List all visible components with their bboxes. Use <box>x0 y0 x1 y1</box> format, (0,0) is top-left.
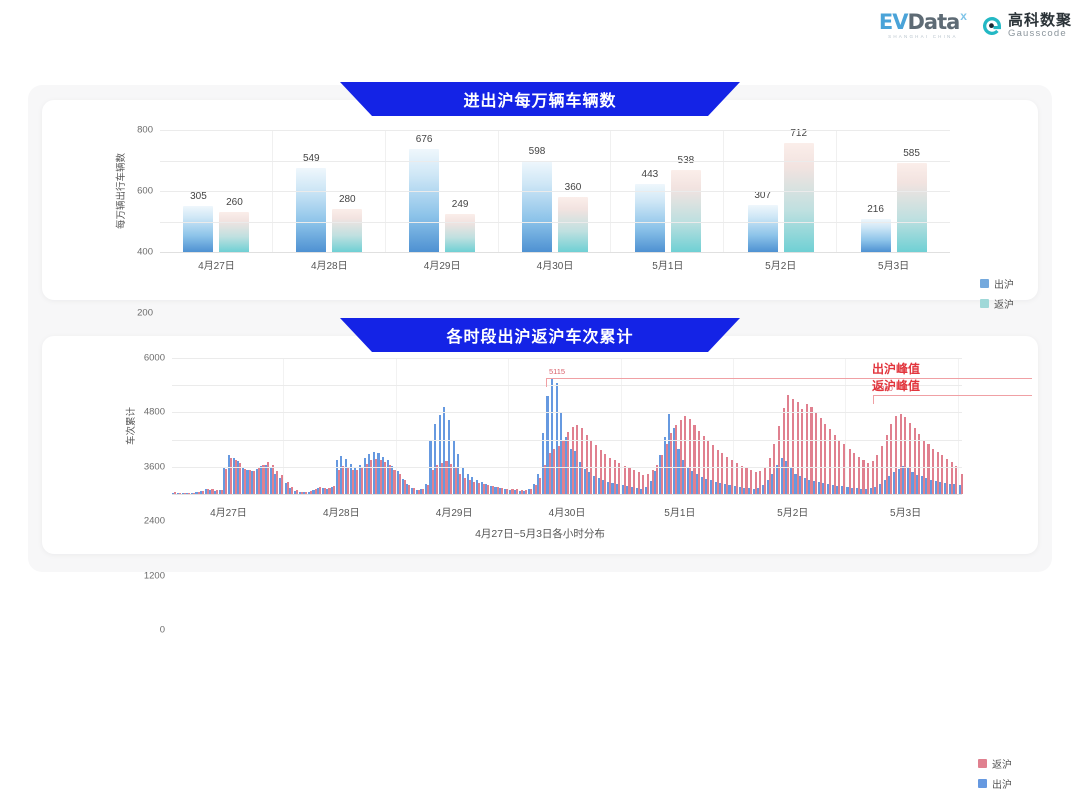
gausscode-logo-cn: 高科数聚 <box>1008 13 1072 29</box>
chart2-legend: 返沪出沪 <box>978 756 1012 791</box>
chart2-annotation-tick <box>873 395 874 404</box>
chart2-bar-back[interactable] <box>961 474 963 494</box>
chart1-x-label: 4月30日 <box>499 257 612 272</box>
chart1-y-tick: 400 <box>137 247 153 258</box>
chart1-y-tick: 600 <box>137 186 153 197</box>
chart1-bar-出沪[interactable]: 305 <box>183 206 213 253</box>
chart1-legend-swatch <box>980 279 989 288</box>
evdata-logo-ev: EV <box>879 12 908 33</box>
chart1-bar-出沪[interactable]: 549 <box>296 168 326 252</box>
chart1-bar-value: 305 <box>190 191 207 202</box>
chart1-x-label: 5月2日 <box>724 257 837 272</box>
chart2-x-label: 4月30日 <box>511 504 624 519</box>
chart1-gridline: 600 <box>160 161 950 162</box>
evdata-logo-data: Data <box>907 12 959 33</box>
gausscode-mark-icon <box>981 15 1003 37</box>
chart1-x-label: 5月1日 <box>611 257 724 272</box>
chart2-y-tick: 6000 <box>144 353 165 364</box>
chart1-bar-出沪[interactable]: 216 <box>861 219 891 252</box>
chart1-gridline: 800 <box>160 130 950 131</box>
chart2-annotation-line <box>873 395 1032 396</box>
chart1-bar-value: 443 <box>642 169 659 180</box>
chart1-gridline: 0 <box>160 252 950 253</box>
chart2-x-label: 5月3日 <box>849 504 962 519</box>
chart1-legend-label: 出沪 <box>994 276 1014 291</box>
evdata-logo: EVDatax SHANGHAI CHINA <box>879 12 967 40</box>
chart1-gridline: 200 <box>160 222 950 223</box>
chart1-legend-item[interactable]: 返沪 <box>980 296 1014 311</box>
chart1-y-axis-title: 每万辆出行车辆数 <box>113 153 127 229</box>
chart2-legend-label: 返沪 <box>992 756 1012 771</box>
chart1-bar-返沪[interactable]: 585 <box>897 163 927 252</box>
header-logo-bar: EVDatax SHANGHAI CHINA 高科数聚 Gausscode <box>879 12 1072 40</box>
chart2-y-tick: 3600 <box>144 461 165 472</box>
chart1-plot-area: 3052605492806762495983604435383077122165… <box>160 130 950 252</box>
chart2-annotation-label: 返沪峰值 <box>872 377 920 394</box>
chart1-bar-返沪[interactable]: 249 <box>445 214 475 252</box>
chart1-x-label: 4月28日 <box>273 257 386 272</box>
chart1-bar-value: 585 <box>903 148 920 159</box>
chart1-bar-返沪[interactable]: 538 <box>671 170 701 252</box>
chart1-y-tick: 200 <box>137 308 153 319</box>
chart2-y-tick: 4800 <box>144 407 165 418</box>
chart1-x-axis-labels: 4月27日4月28日4月29日4月30日5月1日5月2日5月3日 <box>160 257 950 272</box>
chart1-bar-value: 549 <box>303 153 320 164</box>
chart1-x-label: 5月3日 <box>837 257 950 272</box>
chart1-gridline: 400 <box>160 191 950 192</box>
chart2-x-axis-title: 4月27日~5月3日各小时分布 <box>42 526 1038 541</box>
chart1-bar-返沪[interactable]: 280 <box>332 209 362 252</box>
evdata-x-icon: x <box>960 10 967 22</box>
chart1-bar-出沪[interactable]: 307 <box>748 205 778 252</box>
chart1-x-label: 4月29日 <box>386 257 499 272</box>
chart2-gridline: 0 <box>172 494 962 495</box>
chart2-x-label: 5月2日 <box>736 504 849 519</box>
chart1-bar-value: 598 <box>529 146 546 157</box>
chart1-x-label: 4月27日 <box>160 257 273 272</box>
chart2-gridline: 4800 <box>172 385 962 386</box>
daily-vehicles-chart: 每万辆出行车辆数 3052605492806762495983604435383… <box>42 100 1038 300</box>
chart2-x-label: 4月29日 <box>398 504 511 519</box>
chart1-bar-返沪[interactable]: 260 <box>219 212 249 252</box>
chart2-annotation-tick <box>546 378 547 387</box>
hourly-trips-chart: 车次累计 0120024003600480060005115出沪峰值4360返沪… <box>42 336 1038 554</box>
chart2-y-axis-title: 车次累计 <box>123 407 137 445</box>
chart2-plot-area: 0120024003600480060005115出沪峰值4360返沪峰值 <box>172 358 962 494</box>
chart2-annotation-label: 出沪峰值 <box>872 360 920 377</box>
chart2-legend-item[interactable]: 返沪 <box>978 756 1012 771</box>
gausscode-logo-en: Gausscode <box>1008 29 1072 39</box>
chart1-bar-value: 260 <box>226 197 243 208</box>
chart1-legend-label: 返沪 <box>994 296 1014 311</box>
chart1-bar-value: 280 <box>339 194 356 205</box>
daily-vehicles-title-banner: 进出沪每万辆车辆数 <box>340 82 740 116</box>
chart1-bar-value: 249 <box>452 199 469 210</box>
chart2-legend-swatch <box>978 759 987 768</box>
chart1-bar-返沪[interactable]: 360 <box>558 197 588 252</box>
chart1-bar-出沪[interactable]: 676 <box>409 149 439 252</box>
chart1-bar-value: 216 <box>867 204 884 215</box>
daily-vehicles-title: 进出沪每万辆车辆数 <box>463 87 616 111</box>
chart2-x-label: 5月1日 <box>623 504 736 519</box>
chart2-x-label: 4月27日 <box>172 504 285 519</box>
chart2-x-label: 4月28日 <box>285 504 398 519</box>
chart2-annotation-value: 5115 <box>549 367 565 376</box>
chart2-gridline: 1200 <box>172 467 962 468</box>
chart2-legend-label: 出沪 <box>992 776 1012 791</box>
chart2-x-axis-labels: 4月27日4月28日4月29日4月30日5月1日5月2日5月3日 <box>172 504 962 519</box>
chart2-annotation-line <box>546 378 1032 379</box>
chart2-gridline: 6000 <box>172 358 962 359</box>
chart2-legend-item[interactable]: 出沪 <box>978 776 1012 791</box>
chart1-bar-出沪[interactable]: 443 <box>635 184 665 252</box>
chart2-gridline: 2400 <box>172 440 962 441</box>
chart1-bar-出沪[interactable]: 598 <box>522 161 552 252</box>
chart1-y-tick: 800 <box>137 125 153 136</box>
hourly-trips-title-banner: 各时段出沪返沪车次累计 <box>340 318 740 352</box>
hourly-trips-title: 各时段出沪返沪车次累计 <box>446 323 633 347</box>
chart1-legend-swatch <box>980 299 989 308</box>
chart1-legend: 出沪返沪 <box>980 276 1014 311</box>
chart2-y-tick: 0 <box>160 625 165 636</box>
chart1-bar-value: 676 <box>416 134 433 145</box>
chart2-y-tick: 1200 <box>144 570 165 581</box>
gausscode-logo: 高科数聚 Gausscode <box>981 13 1072 39</box>
chart2-gridline: 3600 <box>172 412 962 413</box>
chart2-legend-swatch <box>978 779 987 788</box>
chart1-legend-item[interactable]: 出沪 <box>980 276 1014 291</box>
evdata-logo-sub: SHANGHAI CHINA <box>888 35 958 40</box>
